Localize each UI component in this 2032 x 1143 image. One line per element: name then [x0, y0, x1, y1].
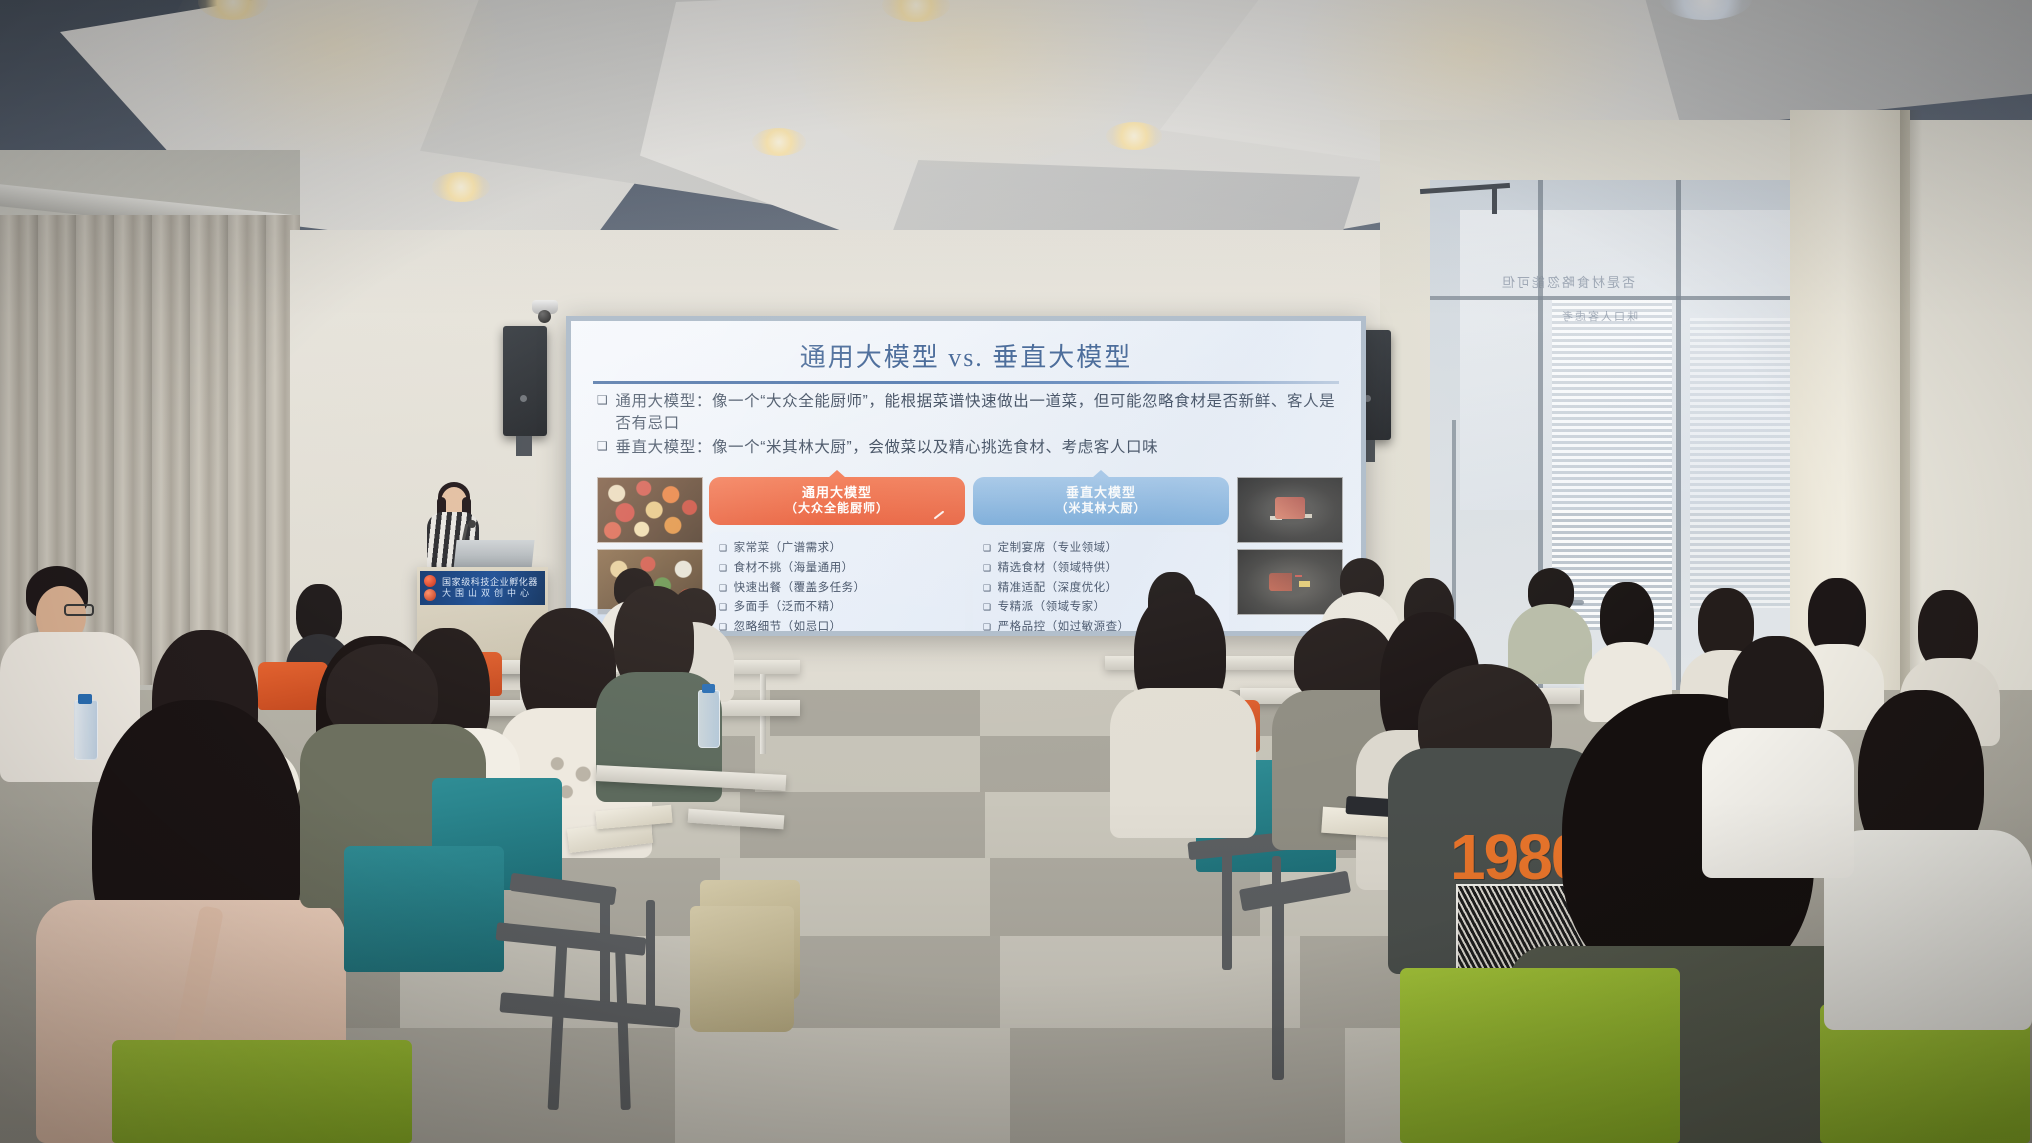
chair-back: [1400, 968, 1680, 1143]
fine-dining-plate-photo-2: [1237, 549, 1343, 615]
downlight-2: [432, 172, 490, 202]
checkbox-icon: ❑: [719, 559, 728, 579]
list-item: ❑定制宴席（专业领域）: [983, 539, 1223, 559]
chair-leg: [1272, 900, 1284, 1080]
general-item-5: 忽略细节（如忌口）: [734, 618, 842, 631]
list-item: ❑食材不挑（海量通用）: [719, 559, 959, 579]
projector-mount-pole: [1492, 186, 1497, 214]
checkbox-icon: ❑: [719, 598, 728, 618]
general-model-list: ❑家常菜（广谱需求） ❑食材不挑（海量通用） ❑快速出餐（覆盖多任务） ❑多面手…: [709, 532, 965, 631]
wall-speaker-left-mount: [516, 436, 532, 456]
microphone-head-icon: [468, 520, 476, 528]
slide-panel-general: 通用大模型 （大众全能厨师） ❑家常菜（广谱需求） ❑食材不挑（海量通用） ❑快…: [709, 477, 965, 631]
vertical-item-2: 精选食材（领域特供）: [998, 559, 1118, 579]
venue-logo-icon: [424, 575, 436, 587]
vertical-item-1: 定制宴席（专业领域）: [998, 539, 1118, 559]
wall-speaker-left: [503, 326, 547, 436]
checkbox-icon: ❑: [719, 539, 728, 559]
vertical-model-heading: 垂直大模型: [977, 484, 1225, 501]
chair-back: [112, 1040, 412, 1143]
checkbox-icon: ❑: [719, 579, 728, 599]
audience-torso: [1110, 688, 1256, 838]
general-item-2: 食材不挑（海量通用）: [734, 559, 854, 579]
audience-torso: [1824, 830, 2032, 1030]
vertical-item-5: 严格品控（如过敏源查）: [998, 618, 1130, 631]
bottle-cap: [78, 694, 92, 704]
list-item: ❑忽略细节（如忌口）: [719, 618, 959, 631]
list-item: ❑快速出餐（覆盖多任务）: [719, 579, 959, 599]
slide-title-rule: [593, 381, 1339, 384]
general-item-1: 家常菜（广谱需求）: [734, 539, 842, 559]
glass-mullion-v2: [1676, 180, 1681, 760]
venue-logo-icon-2: [424, 589, 436, 601]
podium-banner: 国家级科技企业孵化器 大围山双创中心: [420, 571, 545, 605]
slide-bullet-1: ❑ 通用大模型：像一个“大众全能厨师”，能根据菜谱快速做出一道菜，但可能忽略食材…: [597, 391, 1341, 435]
chair-leg: [1222, 840, 1232, 970]
glass-reflection-slide: [1460, 210, 1790, 510]
checkbox-icon: ❑: [983, 598, 992, 618]
tote-bag: [690, 906, 794, 1032]
ceiling-security-camera-dome: [538, 310, 551, 323]
slide-photos-right: [1237, 477, 1341, 615]
buffet-spread-photo: [597, 477, 703, 543]
projection-screen: 通用大模型 vs. 垂直大模型 ❑ 通用大模型：像一个“大众全能厨师”，能根据菜…: [571, 321, 1361, 631]
glass-reflection-text-2: 味口人客虑考: [1560, 308, 1638, 324]
general-model-chip: 通用大模型 （大众全能厨师）: [709, 477, 965, 525]
vertical-model-chip: 垂直大模型 （米其林大厨）: [973, 477, 1229, 525]
carpet-tile: [1010, 1028, 1345, 1143]
carpet-tile: [755, 736, 980, 792]
presenter-laptop: [453, 540, 534, 570]
slide-bullet-1-text: 通用大模型：像一个“大众全能厨师”，能根据菜谱快速做出一道菜，但可能忽略食材是否…: [615, 391, 1341, 435]
checkbox-icon: ❑: [983, 579, 992, 599]
glass-reflection-text-1: 否是材食略忽能可但: [1500, 272, 1635, 291]
eyeglasses-icon: [64, 604, 94, 616]
water-bottle: [74, 700, 98, 760]
general-model-heading: 通用大模型: [713, 484, 961, 501]
vertical-model-subheading: （米其林大厨）: [977, 501, 1225, 517]
chair-leg: [646, 900, 655, 1020]
list-item: ❑精选食材（领域特供）: [983, 559, 1223, 579]
carpet-tile: [675, 1028, 1010, 1143]
podium-banner-line1: 国家级科技企业孵化器: [442, 577, 545, 588]
podium-banner-line2: 大围山双创中心: [442, 588, 545, 599]
bullet-marker-icon: ❑: [597, 391, 608, 435]
bottle-cap: [702, 684, 715, 693]
checkbox-icon: ❑: [983, 539, 992, 559]
list-item: ❑多面手（泛而不精）: [719, 598, 959, 618]
downlight-5: [1106, 122, 1162, 150]
slide-bullet-2: ❑ 垂直大模型：像一个“米其林大厨”，会做菜以及精心挑选食材、考虑客人口味: [597, 437, 1341, 459]
checkbox-icon: ❑: [983, 618, 992, 631]
vertical-item-3: 精准适配（深度优化）: [998, 579, 1118, 599]
wall-speaker-left-badge: [520, 395, 527, 402]
carpet-tile: [1000, 936, 1300, 1028]
water-bottle: [698, 690, 720, 748]
glass-mullion-h1: [1430, 296, 1800, 300]
fine-dining-plate-photo: [1237, 477, 1343, 543]
general-model-subheading: （大众全能厨师）: [713, 501, 961, 517]
carpet-tile: [770, 690, 980, 736]
audience-torso: [1702, 728, 1854, 878]
slide-title: 通用大模型 vs. 垂直大模型: [571, 337, 1361, 374]
vertical-item-4: 专精派（领域专家）: [998, 598, 1106, 618]
list-item: ❑家常菜（广谱需求）: [719, 539, 959, 559]
downlight-4: [752, 128, 806, 156]
checkbox-icon: ❑: [983, 559, 992, 579]
lecture-room-photo: 否是材食略忽能可但 味口人客虑考 通用大模型 vs. 垂直大模型 ❑ 通用大模型…: [0, 0, 2032, 1143]
bullet-marker-icon-2: ❑: [597, 437, 608, 459]
slide-bullet-2-text: 垂直大模型：像一个“米其林大厨”，会做菜以及精心挑选食材、考虑客人口味: [615, 437, 1341, 459]
general-item-4: 多面手（泛而不精）: [734, 598, 842, 618]
checkbox-icon: ❑: [719, 618, 728, 631]
chair-back: [344, 846, 504, 972]
slide-bullet-list: ❑ 通用大模型：像一个“大众全能厨师”，能根据菜谱快速做出一道菜，但可能忽略食材…: [597, 391, 1341, 461]
general-item-3: 快速出餐（覆盖多任务）: [734, 579, 866, 599]
